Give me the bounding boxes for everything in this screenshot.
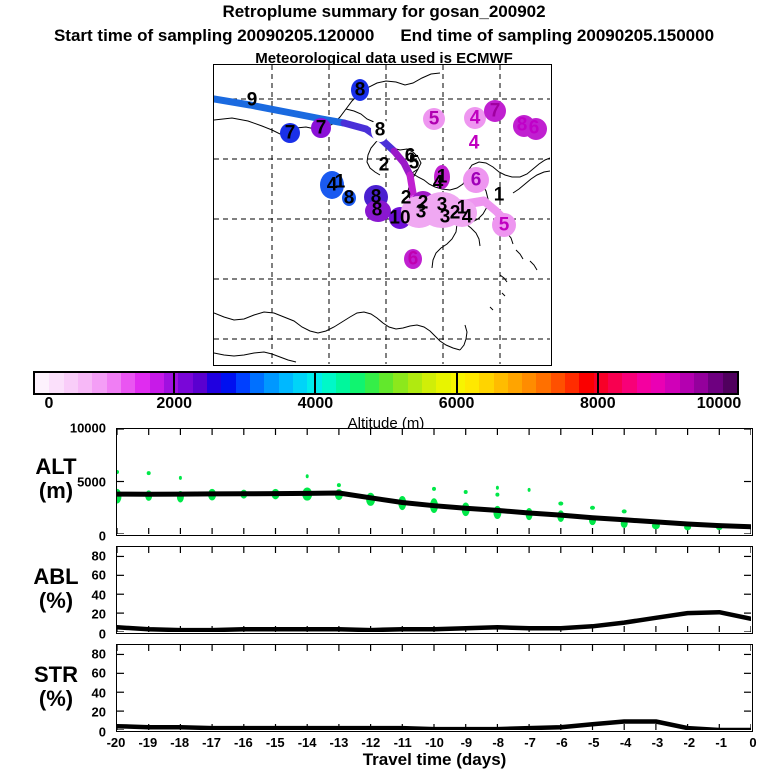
x-axis-label: Travel time (days) xyxy=(116,750,753,770)
colorbar-tick-label: 8000 xyxy=(580,395,616,413)
colorbar-swatch xyxy=(451,373,465,393)
colorbar-tick-label: 10000 xyxy=(697,395,742,413)
colorbar-tick-label: 0 xyxy=(45,395,54,413)
colorbar-swatch xyxy=(479,373,493,393)
x-axis-tick-label: -4 xyxy=(620,735,632,750)
x-axis-tick-label: -20 xyxy=(107,735,126,750)
y-axis-tick-label: 60 xyxy=(92,568,112,583)
map-day-label: 7 xyxy=(490,102,501,121)
map-day-label: 2 xyxy=(401,189,412,208)
sampling-time-row: Start time of sampling 20090205.120000 E… xyxy=(0,26,768,46)
colorbar-swatch xyxy=(164,373,178,393)
colorbar-swatch xyxy=(207,373,221,393)
colorbar-swatch xyxy=(35,373,49,393)
colorbar-swatch xyxy=(264,373,278,393)
abl-panel[interactable] xyxy=(116,546,753,634)
colorbar-swatch xyxy=(250,373,264,393)
x-axis-tick-label: -14 xyxy=(298,735,317,750)
x-axis-tick-label: -13 xyxy=(330,735,349,750)
x-axis-tick-label: -3 xyxy=(652,735,664,750)
y-axis-tick-label: 0 xyxy=(99,529,112,544)
x-axis-tick-label: -9 xyxy=(461,735,473,750)
map-day-label: 8 xyxy=(372,201,383,220)
colorbar-swatch xyxy=(49,373,63,393)
colorbar-gradient xyxy=(33,371,739,395)
map-day-label: 1 xyxy=(494,186,505,205)
map-day-label: 6 xyxy=(408,250,419,269)
colorbar-swatch xyxy=(350,373,364,393)
map-day-label: 8 xyxy=(355,81,366,100)
map-day-label: 8 xyxy=(517,116,528,135)
x-axis-tick-label: -16 xyxy=(234,735,253,750)
map-day-label: 4 xyxy=(462,208,473,227)
map-day-label: 5 xyxy=(429,110,440,129)
end-time-label: End time of sampling 20090205.150000 xyxy=(400,26,714,46)
x-axis-tick-label: -15 xyxy=(266,735,285,750)
y-axis-tick-label: 20 xyxy=(92,705,112,720)
x-axis-tick-label: -19 xyxy=(138,735,157,750)
alt-y-axis-labels: 0500010000 xyxy=(0,428,112,536)
colorbar-swatch xyxy=(78,373,92,393)
colorbar-swatch xyxy=(135,373,149,393)
y-axis-tick-label: 40 xyxy=(92,587,112,602)
y-axis-tick-label: 80 xyxy=(92,646,112,661)
map-day-label: 3 xyxy=(416,203,427,222)
axis-ticks xyxy=(117,429,751,534)
map-day-label: 9 xyxy=(247,91,258,110)
map-day-label: 6 xyxy=(529,119,540,138)
y-axis-tick-label: 10000 xyxy=(70,421,112,436)
start-time-label: Start time of sampling 20090205.120000 xyxy=(54,26,374,46)
colorbar-swatch xyxy=(379,373,393,393)
colorbar-swatch xyxy=(336,373,350,393)
colorbar-divider xyxy=(456,371,458,395)
map-day-label: 10 xyxy=(389,209,410,228)
colorbar-swatch xyxy=(193,373,207,393)
map-day-label: 8 xyxy=(344,189,355,208)
alt-plot xyxy=(117,429,751,534)
y-axis-tick-label: 5000 xyxy=(77,475,112,490)
alt-panel[interactable] xyxy=(116,428,753,536)
map-day-label: 8 xyxy=(375,121,386,140)
colorbar-swatch xyxy=(522,373,536,393)
x-axis-tick-label: -6 xyxy=(556,735,568,750)
x-axis-tick-label: -10 xyxy=(425,735,444,750)
colorbar-swatch xyxy=(107,373,121,393)
y-axis-tick-label: 0 xyxy=(99,627,112,642)
colorbar-swatch xyxy=(694,373,708,393)
colorbar-swatch xyxy=(178,373,192,393)
x-axis-tick-label: -5 xyxy=(588,735,600,750)
colorbar-swatch xyxy=(92,373,106,393)
colorbar-swatch xyxy=(508,373,522,393)
map-day-label: 4 xyxy=(469,134,480,153)
colorbar-swatch xyxy=(651,373,665,393)
colorbar-swatch xyxy=(436,373,450,393)
map-day-label: 7 xyxy=(316,119,327,138)
x-axis-tick-label: -1 xyxy=(715,735,727,750)
colorbar-divider xyxy=(173,371,175,395)
colorbar-swatch xyxy=(221,373,235,393)
map-day-label: 5 xyxy=(499,216,510,235)
colorbar-swatch xyxy=(708,373,722,393)
colorbar-swatch xyxy=(665,373,679,393)
map-day-label: 4 xyxy=(470,109,481,128)
map-day-label: 7 xyxy=(285,124,296,143)
colorbar-swatch xyxy=(64,373,78,393)
colorbar-swatch xyxy=(494,373,508,393)
colorbar-tick-label: 4000 xyxy=(298,395,334,413)
y-axis-tick-label: 60 xyxy=(92,666,112,681)
colorbar-swatch xyxy=(293,373,307,393)
x-axis-tick-label: -8 xyxy=(492,735,504,750)
colorbar-swatch xyxy=(565,373,579,393)
map-day-label: 3 xyxy=(440,208,451,227)
colorbar-swatch xyxy=(365,373,379,393)
abl-y-axis-labels: 020406080 xyxy=(0,546,112,634)
str-y-axis-labels: 020406080 xyxy=(0,644,112,732)
map-day-label: 2 xyxy=(379,156,390,175)
y-axis-tick-label: 40 xyxy=(92,685,112,700)
str-panel[interactable] xyxy=(116,644,753,732)
colorbar-swatch xyxy=(579,373,593,393)
colorbar-swatch xyxy=(408,373,422,393)
map-day-label: 5 xyxy=(409,154,420,173)
colorbar-swatch xyxy=(551,373,565,393)
map-day-label: 6 xyxy=(471,171,482,190)
x-axis-tick-label: -17 xyxy=(202,735,221,750)
colorbar-swatch xyxy=(680,373,694,393)
colorbar-swatch xyxy=(121,373,135,393)
colorbar-swatch xyxy=(465,373,479,393)
page-title: Retroplume summary for gosan_200902 xyxy=(0,2,768,22)
x-axis-tick-label: -11 xyxy=(394,735,412,750)
colorbar-swatch xyxy=(723,373,737,393)
retroplume-map[interactable]: 98877547864652164141888223323141056 xyxy=(213,64,552,366)
colorbar-swatch xyxy=(536,373,550,393)
x-axis-tick-label: -18 xyxy=(170,735,189,750)
colorbar-swatch xyxy=(150,373,164,393)
axis-ticks xyxy=(117,645,751,730)
colorbar-divider xyxy=(314,371,316,395)
colorbar-swatch xyxy=(322,373,336,393)
colorbar-swatch xyxy=(637,373,651,393)
colorbar-tick-label: 6000 xyxy=(439,395,475,413)
colorbar-swatch xyxy=(236,373,250,393)
abl-plot xyxy=(117,547,751,632)
x-axis-tick-label: 0 xyxy=(749,735,756,750)
colorbar-tick-label: 2000 xyxy=(156,395,192,413)
x-axis-tick-label: -7 xyxy=(524,735,536,750)
x-axis-tick-label: -2 xyxy=(684,735,696,750)
colorbar-divider xyxy=(597,371,599,395)
colorbar-swatch xyxy=(422,373,436,393)
colorbar-swatch xyxy=(279,373,293,393)
colorbar-swatch xyxy=(622,373,636,393)
colorbar: 0200040006000800010000 Altitude (m) xyxy=(33,371,739,395)
str-plot xyxy=(117,645,751,730)
y-axis-tick-label: 80 xyxy=(92,548,112,563)
colorbar-swatch xyxy=(608,373,622,393)
colorbar-swatch xyxy=(393,373,407,393)
y-axis-tick-label: 20 xyxy=(92,607,112,622)
map-day-label: 4 xyxy=(433,174,444,193)
x-axis-tick-label: -12 xyxy=(361,735,380,750)
